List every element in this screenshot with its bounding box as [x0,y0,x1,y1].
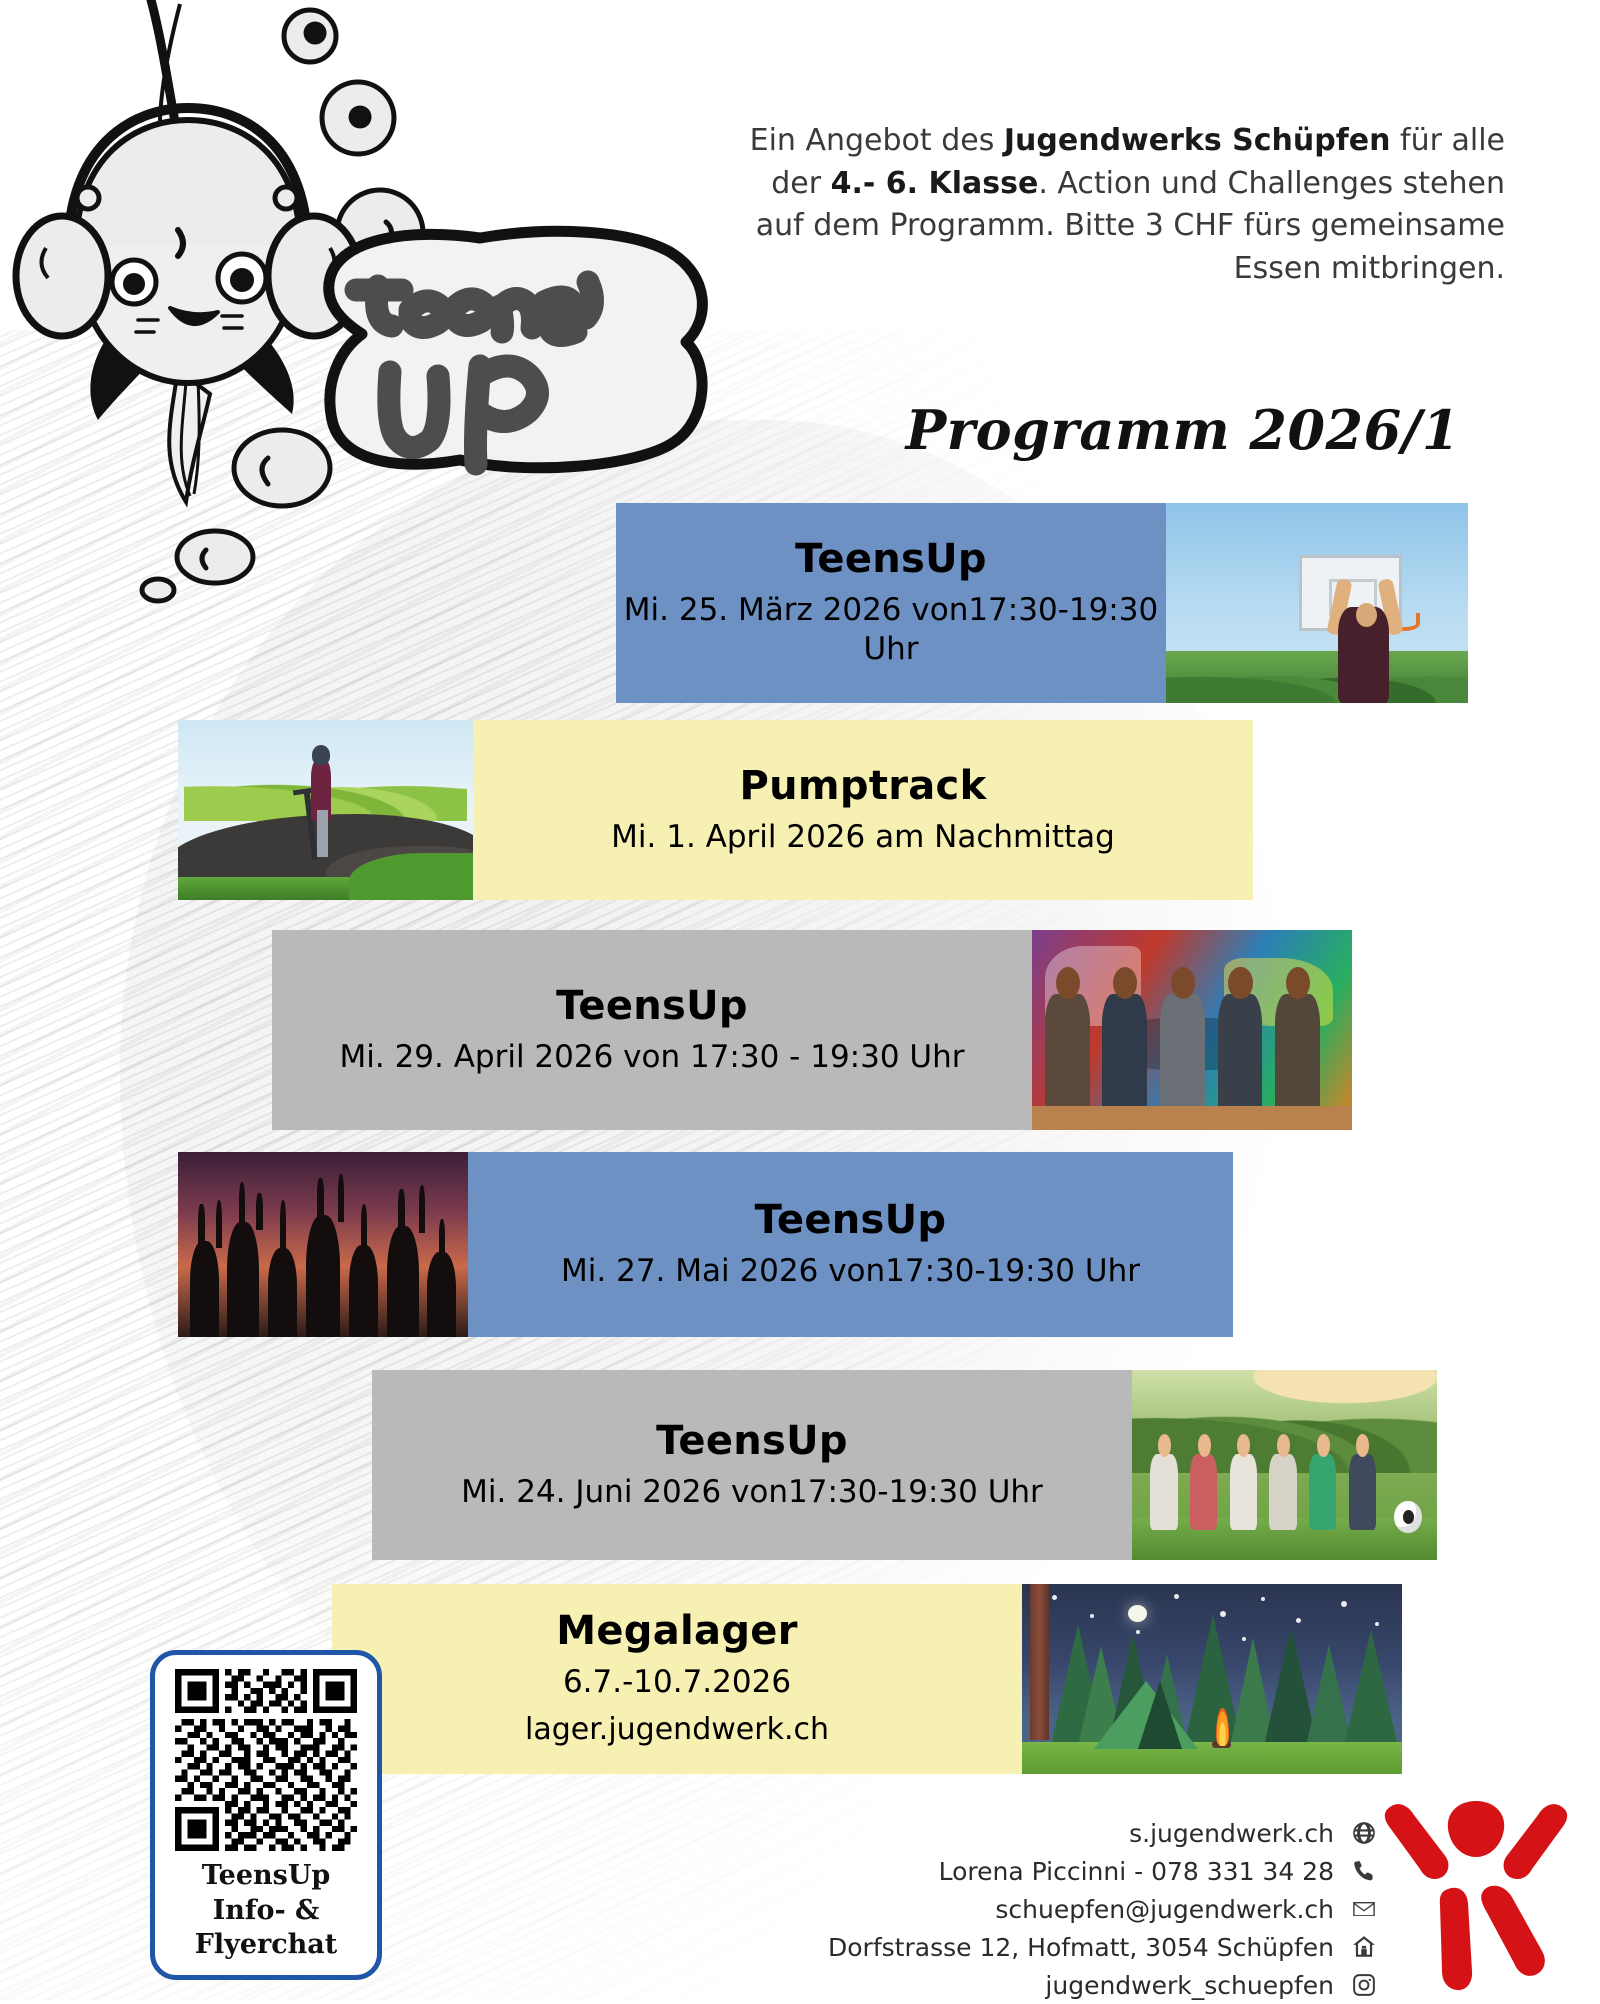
qr-caption-line-2: Info- & [195,1894,338,1929]
event-title: TeensUp [755,1198,947,1243]
event-title: Pumptrack [740,764,987,809]
contact-row-website[interactable]: s.jugendwerk.ch [828,1814,1378,1852]
teensup-wordmark [329,231,703,467]
pumptrack-photo [178,720,473,900]
event-subtitle: Mi. 24. Juni 2026 von17:30-19:30 Uhr [461,1473,1043,1512]
address-text: Dorfstrasse 12, Hofmatt, 3054 Schüpfen [828,1935,1334,1960]
programm-title: Programm 2026/1 [760,398,1460,462]
intro-org: Jugendwerks Schüpfen [1004,123,1391,158]
event-title: Megalager [556,1609,797,1654]
bubble [234,430,330,506]
contact-row-address[interactable]: Dorfstrasse 12, Hofmatt, 3054 Schüpfen [828,1928,1378,1966]
contact-row-email[interactable]: schuepfen@jugendwerk.ch [828,1890,1378,1928]
qr-info-card[interactable]: TeensUp Info- & Flyerchat [150,1650,382,1980]
bubble [142,579,174,601]
contact-block: s.jugendwerk.ch Lorena Piccinni - 078 33… [828,1814,1378,2004]
event-bar-5: TeensUp Mi. 24. Juni 2026 von17:30-19:30… [372,1370,1132,1560]
event-title: TeensUp [556,984,748,1029]
bubble [177,531,253,583]
event-row-2: Pumptrack Mi. 1. April 2026 am Nachmitta… [178,720,1253,900]
event-bar-1: TeensUp Mi. 25. März 2026 von17:30-19:30… [616,503,1166,703]
event-row-5: TeensUp Mi. 24. Juni 2026 von17:30-19:30… [372,1370,1437,1560]
instagram-text: jugendwerk_schuepfen [1045,1973,1334,1998]
jugendwerk-logo [1372,1795,1582,1995]
phone-text: Lorena Piccinni - 078 331 34 28 [939,1859,1334,1884]
intro-text: Ein Angebot des Jugendwerks Schüpfen für… [745,120,1505,290]
email-text: schuepfen@jugendwerk.ch [995,1897,1334,1922]
graffiti-group-photo [1032,930,1352,1130]
park-group-photo [1132,1370,1437,1560]
event-bar-4: TeensUp Mi. 27. Mai 2026 von17:30-19:30 … [468,1152,1233,1337]
event-bar-2: Pumptrack Mi. 1. April 2026 am Nachmitta… [473,720,1253,900]
intro-prefix: Ein Angebot des [750,123,1004,158]
event-row-6: Megalager 6.7.-10.7.2026 lager.jugendwer… [332,1584,1402,1774]
qr-caption: TeensUp Info- & Flyerchat [195,1859,338,1963]
event-bar-3: TeensUp Mi. 29. April 2026 von 17:30 - 1… [272,930,1032,1130]
event-subtitle: 6.7.-10.7.2026 [563,1663,791,1702]
concert-crowd-photo [178,1152,468,1337]
camping-illustration [1022,1584,1402,1774]
basketball-photo [1166,503,1468,703]
flyer-page: Ein Angebot des Jugendwerks Schüpfen für… [0,0,1600,2000]
event-row-4: TeensUp Mi. 27. Mai 2026 von17:30-19:30 … [178,1152,1233,1337]
event-subtitle: Mi. 27. Mai 2026 von17:30-19:30 Uhr [561,1252,1140,1291]
event-row-3: TeensUp Mi. 29. April 2026 von 17:30 - 1… [272,930,1352,1130]
event-row-1: TeensUp Mi. 25. März 2026 von17:30-19:30… [616,503,1468,703]
qr-caption-line-3: Flyerchat [195,1928,338,1963]
event-subtitle-2: lager.jugendwerk.ch [525,1711,829,1749]
event-title: TeensUp [656,1419,848,1464]
intro-class: 4.- 6. Klasse [831,166,1039,201]
event-subtitle: Mi. 1. April 2026 am Nachmittag [611,818,1115,857]
contact-row-instagram[interactable]: jugendwerk_schuepfen [828,1966,1378,2004]
contact-row-phone[interactable]: Lorena Piccinni - 078 331 34 28 [828,1852,1378,1890]
event-subtitle: Mi. 25. März 2026 von17:30-19:30 Uhr [616,591,1166,669]
event-title: TeensUp [795,537,987,582]
event-subtitle: Mi. 29. April 2026 von 17:30 - 19:30 Uhr [340,1038,965,1077]
teensup-logo [10,0,710,630]
website-text: s.jugendwerk.ch [1129,1821,1334,1846]
qr-caption-line-1: TeensUp [195,1859,338,1894]
event-bar-6: Megalager 6.7.-10.7.2026 lager.jugendwer… [332,1584,1022,1774]
qr-code-icon [175,1669,357,1851]
